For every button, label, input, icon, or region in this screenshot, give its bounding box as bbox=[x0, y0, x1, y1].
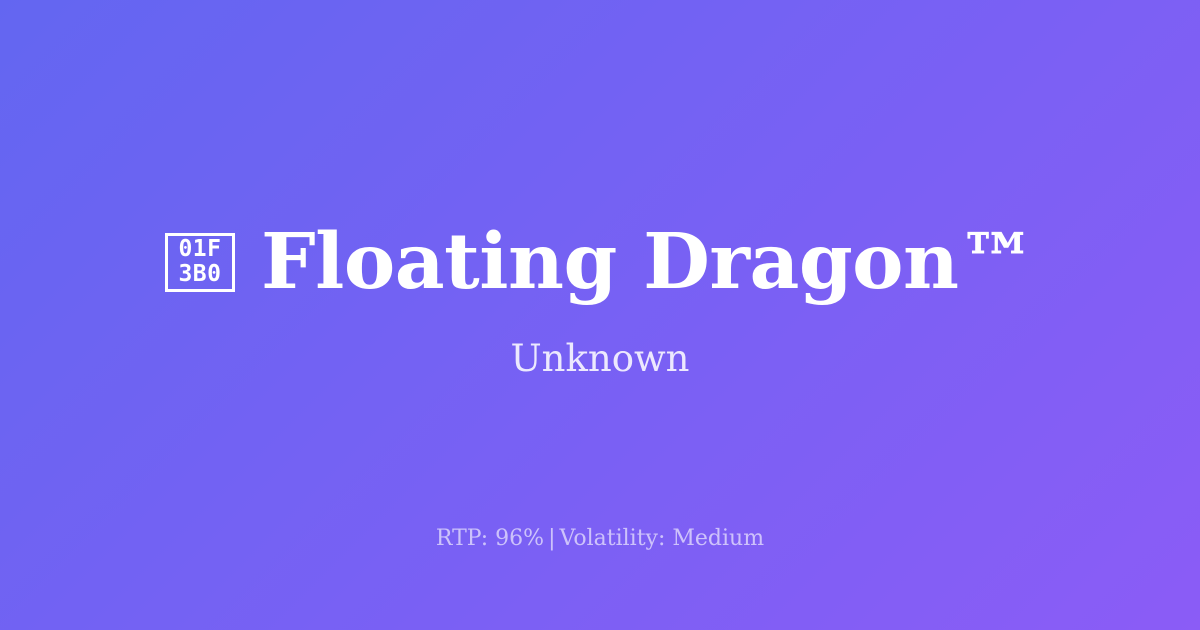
rtp-value: RTP: 96% bbox=[436, 526, 544, 551]
game-meta-line: RTP: 96%|Volatility: Medium bbox=[0, 527, 1200, 551]
meta-separator: | bbox=[544, 526, 559, 551]
slot-machine-emoji-icon: 01F 3B0 bbox=[165, 233, 235, 292]
hero-block: 01F 3B0 Floating Dragon™ Unknown bbox=[0, 222, 1200, 380]
game-subtitle: Unknown bbox=[510, 339, 689, 380]
tofu-codepoint-bottom: 3B0 bbox=[178, 262, 221, 287]
title-row: 01F 3B0 Floating Dragon™ bbox=[165, 222, 1035, 303]
tofu-codepoint-top: 01F bbox=[178, 237, 221, 262]
game-preview-card: 01F 3B0 Floating Dragon™ Unknown RTP: 96… bbox=[0, 0, 1200, 630]
volatility-value: Volatility: Medium bbox=[560, 526, 765, 551]
game-title: Floating Dragon™ bbox=[261, 222, 1035, 303]
